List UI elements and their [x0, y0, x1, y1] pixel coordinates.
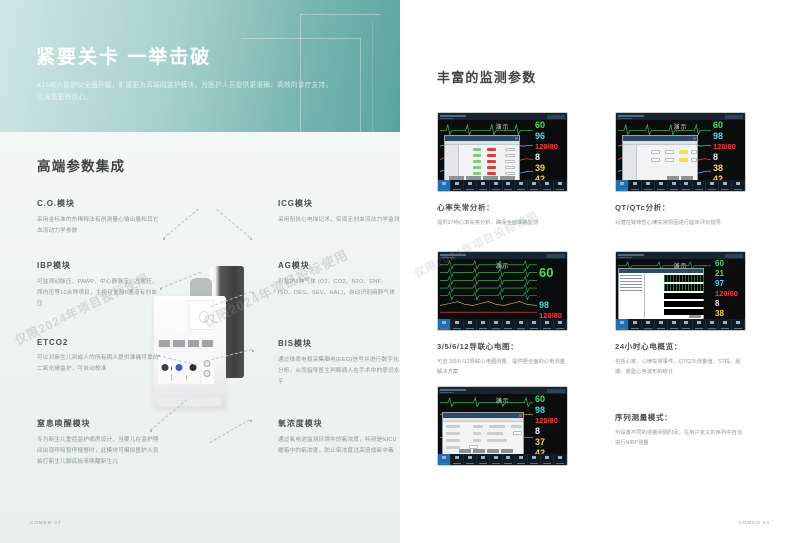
leader-line — [216, 209, 250, 238]
nibp-sequence-dialog[interactable] — [442, 412, 524, 456]
module-callout-oxygen: 氧浓度模块 通过氧电池监测环境中的氧浓度，特别是NICU暖箱中的氧浓度，防止氧浓… — [278, 418, 400, 457]
patient-monitor-illustration — [148, 248, 264, 416]
vital-spo2: 98 — [711, 132, 744, 141]
vital-hr: 60 — [711, 121, 744, 130]
vitals-column: 60 98 120/80 8 37 42 120/80 — [533, 395, 566, 453]
card-title: 序列测量模式： — [615, 412, 746, 423]
card-title: 24小时心电概览： — [615, 341, 746, 352]
vitals-column: 60 96 120/80 8 39 42 4.5 — [533, 121, 566, 179]
module-desc: 专为新生儿重症监护病房设计，当婴儿在监护期间出现呼吸暂停报警时，此模块可模拟医护… — [37, 435, 159, 468]
feature-card-ecg-leads: 演示 60 — [437, 251, 568, 377]
leader-line — [210, 419, 250, 443]
monitor-base — [158, 398, 222, 406]
vital-resp: 8 — [713, 300, 744, 308]
vitals-column: 60 98 120/80 8 — [537, 266, 566, 318]
leader-dot — [160, 288, 162, 290]
vital-resp: 8 — [533, 153, 566, 162]
card-desc: 可选 3/5/6 /12导联心电图测量，提供更全面的心电测量解决方案 — [437, 357, 568, 377]
qtqtc-dialog[interactable] — [622, 135, 698, 183]
vital-hr: 60 — [533, 121, 566, 130]
leader-dot — [252, 350, 254, 352]
leader-line — [163, 208, 199, 238]
page-footer-left: COMEN 02 — [30, 520, 62, 525]
vital-nibp: 120/80 — [711, 143, 744, 151]
vital-hr: 60 — [713, 260, 744, 268]
module-callout-asphyxia: 窒息唤醒模块 专为新生儿重症监护病房设计，当婴儿在监护期间出现呼吸暂停报警时，此… — [37, 418, 159, 468]
module-desc: 采用金标准的热稀释法有创测量心输出量和其它血流动力学参数 — [37, 215, 159, 237]
hero-title: 紧要关卡 一举击破 — [36, 42, 211, 69]
module-desc: 可监护8种气体 (O2、CO2、N2O、ENF、ISO、DES、SEV、HAL)… — [278, 277, 400, 299]
module-callout-co: C.O.模块 采用金标准的热稀释法有创测量心输出量和其它血流动力学参数 — [37, 198, 159, 237]
page-footer-right: COMEN 03 — [739, 520, 771, 525]
brochure-spread: 紧要关卡 一举击破 K15病人监护仪全面升级，扩展更为高端的监护模块，为医护人员… — [0, 0, 800, 543]
feature-card-qtqtc: 演示 60 98 120/80 8 38 42 4.5 — [615, 112, 746, 228]
monitor-screenshot: 演示 60 98 120/80 8 37 42 120/80 — [437, 386, 568, 466]
vitals-column: 60 21 97 120/80 8 38 120/80 37.0 36.0 — [713, 260, 744, 318]
vital-hr: 60 — [533, 395, 566, 404]
vital-etco2: 38 — [713, 310, 744, 318]
hero-banner: 紧要关卡 一举击破 K15病人监护仪全面升级，扩展更为高端的监护模块，为医护人员… — [0, 0, 400, 132]
module-callout-ag: AG模块 可监护8种气体 (O2、CO2、N2O、ENF、ISO、DES、SEV… — [278, 260, 400, 299]
vital-etco2: 38 — [711, 164, 744, 173]
monitor-toolbar[interactable] — [438, 180, 567, 191]
monitor-toolbar[interactable] — [438, 319, 567, 330]
vital-spo2: 98 — [537, 301, 566, 310]
module-desc: 通过氧电池监测环境中的氧浓度，特别是NICU暖箱中的氧浓度，防止氧浓度过高造成氧… — [278, 435, 400, 457]
module-title: C.O.模块 — [37, 198, 159, 209]
module-desc: 可以对新生儿到成人的所有病人提供准确可靠的二氧化碳监护，可自动校准 — [37, 353, 159, 375]
card-desc: 可设置不同的测量间隔时间，在用户定义的序列中自动进行NIBP测量 — [615, 428, 746, 448]
vital-spo2: 98 — [533, 406, 566, 415]
module-title: ETCO2 — [37, 338, 159, 347]
vital-resp: 8 — [711, 153, 744, 162]
module-door — [188, 300, 214, 330]
leader-dot — [250, 238, 252, 240]
vitals-column: 60 98 120/80 8 38 42 4.5 — [711, 121, 744, 179]
leader-dot — [252, 292, 254, 294]
feature-card-sequence-text: 序列测量模式： 可设置不同的测量间隔时间，在用户定义的序列中自动进行NIBP测量 — [615, 386, 746, 448]
right-section-title: 丰富的监测参数 — [437, 67, 536, 86]
monitor-screenshot: 演示 60 98 120/80 8 38 42 4.5 — [615, 112, 746, 192]
monitor-screenshot: 演示 60 96 120/80 8 39 42 4.5 — [437, 112, 568, 192]
vital-resp: 8 — [533, 427, 566, 436]
vital-nibp: 120/80 — [533, 143, 566, 151]
module-desc: 可监测动脉压、PAWP、中心静脉压、左房压、颅内压等10余种项目，主机可支持8通… — [37, 277, 159, 310]
monitor-toolbar[interactable] — [616, 180, 745, 191]
ecg-overview-panel[interactable] — [618, 268, 704, 320]
waveform-area — [440, 260, 537, 318]
monitor-toolbar[interactable] — [438, 454, 567, 465]
monitor-toolbar[interactable] — [616, 319, 745, 330]
module-title: IBP模块 — [37, 260, 159, 271]
monitor-screenshot: 演示 60 — [437, 251, 568, 331]
card-title: 心率失常分析： — [437, 202, 568, 213]
module-title: 窒息唤醒模块 — [37, 418, 159, 429]
left-page: 紧要关卡 一举击破 K15病人监护仪全面升级，扩展更为高端的监护模块，为医护人员… — [0, 0, 400, 543]
hero-subtitle: K15病人监护仪全面升级，扩展更为高端的监护模块，为医护人员提供更准确、高效的诊… — [37, 80, 337, 104]
vital-pvc: 21 — [713, 270, 744, 278]
module-callout-etco2: ETCO2 可以对新生儿到成人的所有病人提供准确可靠的二氧化碳监护，可自动校准 — [37, 338, 159, 375]
arrhythmia-dialog[interactable] — [444, 135, 520, 183]
module-title: AG模块 — [278, 260, 400, 271]
module-desc: 通过体表电极采集脑电(EEG)信号并进行数字化分析，从而指导医生判断病人在手术中… — [278, 355, 400, 388]
module-title: ICG模块 — [278, 198, 400, 209]
leader-dot — [250, 420, 252, 422]
feature-card-24h-ecg: 演示 60 21 97 120/80 8 38 120/80 37.0 36.0 — [615, 251, 746, 377]
vital-nibp: 120/80 — [533, 417, 566, 425]
card-desc: 提供27种心率失常分析，确保全面准确监测 — [437, 218, 568, 228]
module-slot — [158, 340, 171, 384]
module-title: BIS模块 — [278, 338, 400, 349]
card-desc: 包括心率、心律失常事件、QT/QTc测量值、ST段、起搏、典型心电波形的统计 — [615, 357, 746, 377]
right-page: 丰富的监测参数 演示 60 96 120/80 — [400, 0, 800, 543]
module-callout-ibp: IBP模块 可监测动脉压、PAWP、中心静脉压、左房压、颅内压等10余种项目，主… — [37, 260, 159, 310]
module-callout-icg: ICG模块 采用阻抗心电描记术，实现无创血流动力学监测 — [278, 198, 400, 226]
module-desc: 采用阻抗心电描记术，实现无创血流动力学监测 — [278, 215, 400, 226]
monitor-screenshot: 演示 60 21 97 120/80 8 38 120/80 37.0 36.0 — [615, 251, 746, 331]
module-title: 氧浓度模块 — [278, 418, 400, 429]
card-title: QT/QTc分析： — [615, 202, 746, 213]
leader-dot — [163, 238, 165, 240]
card-title: 3/5/6/12导联心电图： — [437, 341, 568, 352]
vital-etco2: 39 — [533, 164, 566, 173]
feature-card-arrhythmia: 演示 60 96 120/80 8 39 42 4.5 — [437, 112, 568, 228]
vital-spo2: 96 — [533, 132, 566, 141]
vital-hr: 60 — [537, 266, 566, 279]
vital-etco2: 37 — [533, 438, 566, 447]
module-callout-bis: BIS模块 通过体表电极采集脑电(EEG)信号并进行数字化分析，从而指导医生判断… — [278, 338, 400, 388]
module-slot — [201, 340, 214, 384]
vital-nibp: 120/80 — [713, 290, 744, 298]
vital-spo2: 97 — [713, 280, 744, 288]
card-desc: 对潜在致命性心律失常原因进行临床评价指导 — [615, 218, 746, 228]
left-section-title: 高端参数集成 — [37, 155, 125, 175]
feature-card-sequence-mode: 演示 60 98 120/80 8 37 42 120/80 — [437, 386, 568, 466]
